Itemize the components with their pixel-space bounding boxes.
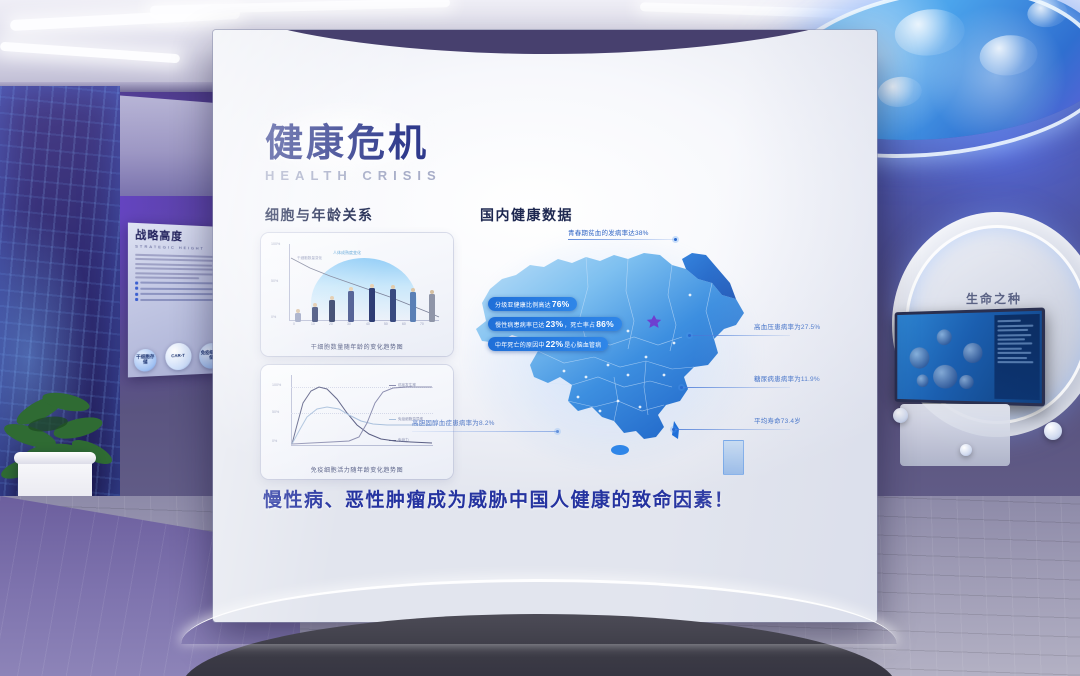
chip-stem-cell[interactable]: 干细胞存储: [134, 349, 156, 372]
chart-stem-cell-vs-age: 100% 50% 0% 人体成熟度变化 干细胞数量变化: [271, 242, 443, 338]
x-tick-label: 40: [366, 322, 370, 326]
legend-entry-cancer: 癌症发生率: [389, 383, 416, 388]
series-cancer-rate: [292, 387, 432, 444]
title-block: 健康危机 HEALTH CRISIS: [265, 112, 442, 183]
x-tick-label: 50: [384, 322, 388, 326]
x-tick-label: 0: [293, 322, 295, 326]
decor-sphere: [960, 444, 972, 456]
ceiling-light-strip: [640, 2, 860, 19]
x-tick-label: 20: [329, 322, 333, 326]
x-tick-label: 10: [311, 322, 315, 326]
x-tick-label: 70: [420, 322, 424, 326]
badge-chronic-disease[interactable]: 慢性病患病率已达23%，死亡率占86%: [488, 317, 622, 331]
south-china-sea-inset: [723, 440, 744, 475]
badge-sub-health[interactable]: 分级亚健康比例高达76%: [488, 297, 577, 311]
decor-sphere: [1044, 422, 1062, 440]
chip-car-t[interactable]: CAR-T: [165, 343, 191, 371]
monitor-screen-content: [897, 311, 1042, 404]
callout-diabetes[interactable]: 糖尿病患病率为11.9%: [754, 373, 820, 383]
y-tick-label: 0%: [272, 439, 277, 443]
right-exhibit-title: 生命之种: [966, 290, 1022, 307]
series-immune-mutation: [292, 407, 432, 444]
exhibition-scene: 战略高度 STRATEGIC HEIGHT 干细胞存储 CAR-T 免疫细胞存储: [0, 0, 1080, 676]
page-title: 健康危机: [265, 112, 442, 167]
exhibit-board-wrapper: 健康危机 HEALTH CRISIS 细胞与年龄关系 国内健康数据 100% 5…: [205, 18, 885, 648]
monitor-side-info-panel: [994, 314, 1039, 400]
exhibit-pedestal: [900, 404, 1010, 466]
page-title-english: HEALTH CRISIS: [265, 168, 442, 183]
y-tick-label: 100%: [271, 242, 280, 246]
series-immune-vitality: [292, 387, 432, 444]
china-health-map[interactable]: 分级亚健康比例高达76% 慢性病患病率已达23%，死亡率占86% 中年死亡的原因…: [468, 225, 858, 495]
x-tick-label: 30: [347, 322, 351, 326]
badge-midlife-death[interactable]: 中年死亡的原因中22%是心脑血管病: [488, 337, 608, 351]
bottom-headline: 慢性病、恶性肿瘤成为威胁中国人健康的致命因素！: [263, 485, 823, 512]
legend-entry-immunity: 免疫力: [389, 438, 409, 443]
decor-sphere: [893, 408, 908, 423]
age-figure-row: [293, 272, 439, 322]
ceiling-light-strip: [0, 42, 180, 64]
chart-caption-immune: 免疫细胞活力随年龄变化趋势图: [261, 465, 453, 474]
right-exhibit-unit[interactable]: 生命之种: [880, 212, 1080, 472]
callout-cholesterol[interactable]: 高胆固醇血症患病率为8.2%: [412, 417, 495, 427]
callout-life-expectancy[interactable]: 平均寿命73.4岁: [754, 415, 801, 425]
exhibit-board: 健康危机 HEALTH CRISIS 细胞与年龄关系 国内健康数据 100% 5…: [213, 30, 877, 622]
ceiling-light-strip: [150, 0, 450, 15]
wall-monitor[interactable]: [895, 307, 1045, 406]
board-content: 健康危机 HEALTH CRISIS 细胞与年龄关系 国内健康数据 100% 5…: [213, 30, 877, 622]
callout-hypertension[interactable]: 高血压患病率为27.5%: [754, 321, 820, 331]
y-tick-label: 0%: [271, 315, 276, 319]
callout-anemia[interactable]: 青春期贫血的发病率达38%: [568, 227, 649, 237]
section-heading-cell-age: 细胞与年龄关系: [265, 205, 374, 225]
y-tick-label: 100%: [272, 383, 281, 387]
y-tick-label: 50%: [272, 410, 279, 414]
x-tick-label: 60: [402, 322, 406, 326]
chart-caption-stem-cell: 干细胞数量随年龄的变化趋势图: [261, 342, 453, 351]
chart-card-stem-cell[interactable]: 100% 50% 0% 人体成熟度变化 干细胞数量变化: [261, 233, 453, 356]
y-tick-label: 50%: [271, 279, 278, 283]
